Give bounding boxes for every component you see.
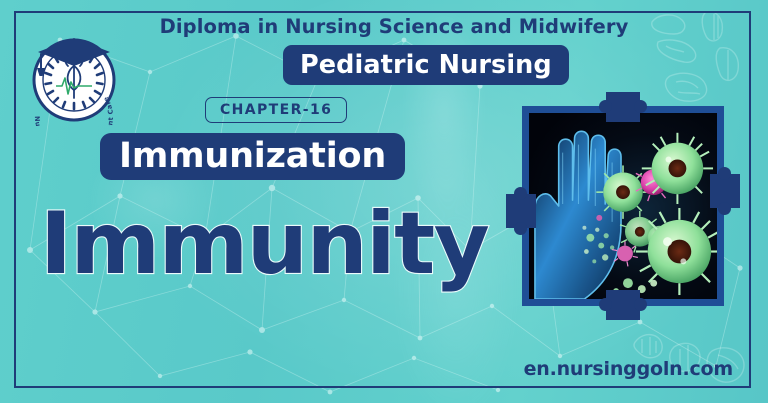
immunity-illustration-panel <box>522 106 724 306</box>
virus-and-hand-illustration <box>529 113 717 299</box>
puzzle-piece-left-icon <box>506 194 536 228</box>
topic-title-pill: Immunization <box>100 133 405 180</box>
poster-canvas: Gurukul Nursing, Midwifery & Patient Car… <box>0 0 768 403</box>
website-url: en.nursinggoln.com <box>524 358 733 380</box>
course-title: Diploma in Nursing Science and Midwifery <box>0 15 768 38</box>
illustration-frame <box>522 106 724 306</box>
subject-title-pill: Pediatric Nursing <box>283 45 569 85</box>
hero-heading: Immunity <box>40 196 488 292</box>
puzzle-piece-bottom-icon <box>606 290 640 320</box>
puzzle-piece-top-icon <box>606 92 640 122</box>
puzzle-piece-right-icon <box>710 174 740 208</box>
chapter-badge: CHAPTER-16 <box>205 97 347 123</box>
